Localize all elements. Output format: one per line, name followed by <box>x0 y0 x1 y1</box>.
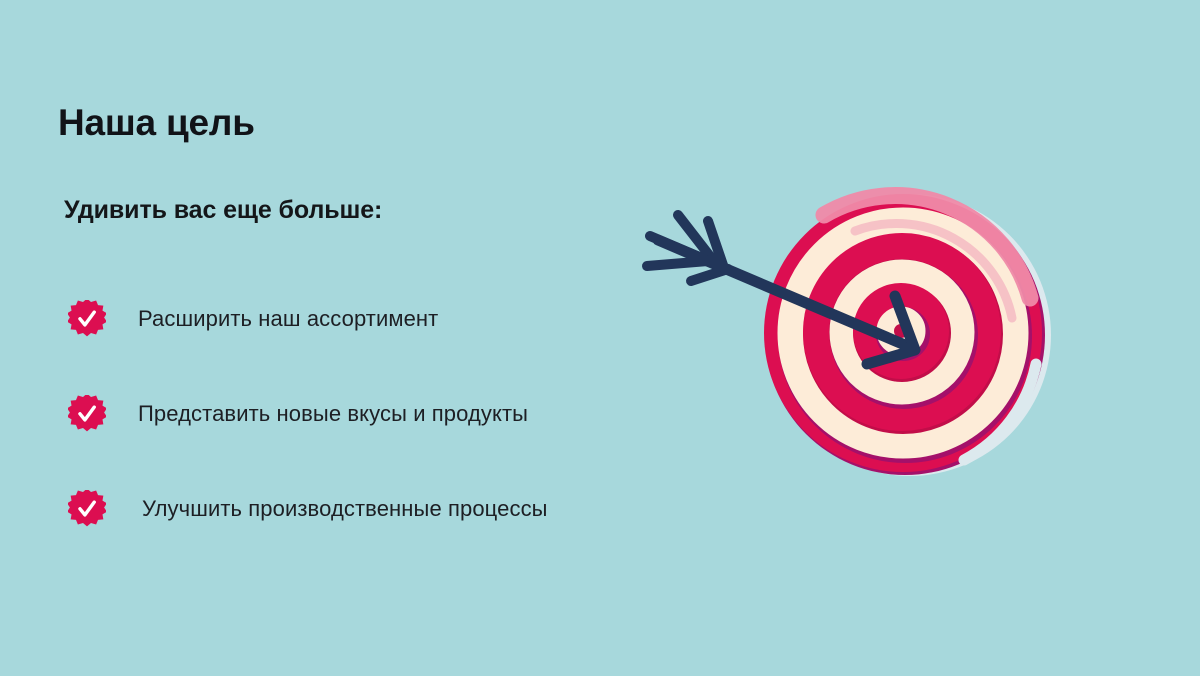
list-item: Улучшить производственные процессы <box>0 485 640 533</box>
list-item: Представить новые вкусы и продукты <box>0 390 640 438</box>
check-badge-icon <box>68 300 106 338</box>
page-title: Наша цель <box>58 103 255 144</box>
subtitle: Удивить вас еще больше: <box>64 197 382 225</box>
list-item: Расширить наш ассортимент <box>0 295 640 343</box>
list-item-label: Улучшить производственные процессы <box>142 496 548 522</box>
check-badge-icon <box>68 490 106 528</box>
list-item-label: Расширить наш ассортимент <box>138 306 438 332</box>
target-with-arrow-illustration <box>612 168 1112 508</box>
check-badge-icon <box>68 395 106 433</box>
list-item-label: Представить новые вкусы и продукты <box>138 401 528 427</box>
slide-canvas: Наша цель Удивить вас еще больше: Расшир… <box>0 0 1200 676</box>
bullet-list: Расширить наш ассортимент Представить но… <box>0 295 640 580</box>
left-text-column: Наша цель Удивить вас еще больше: Расшир… <box>0 0 640 676</box>
